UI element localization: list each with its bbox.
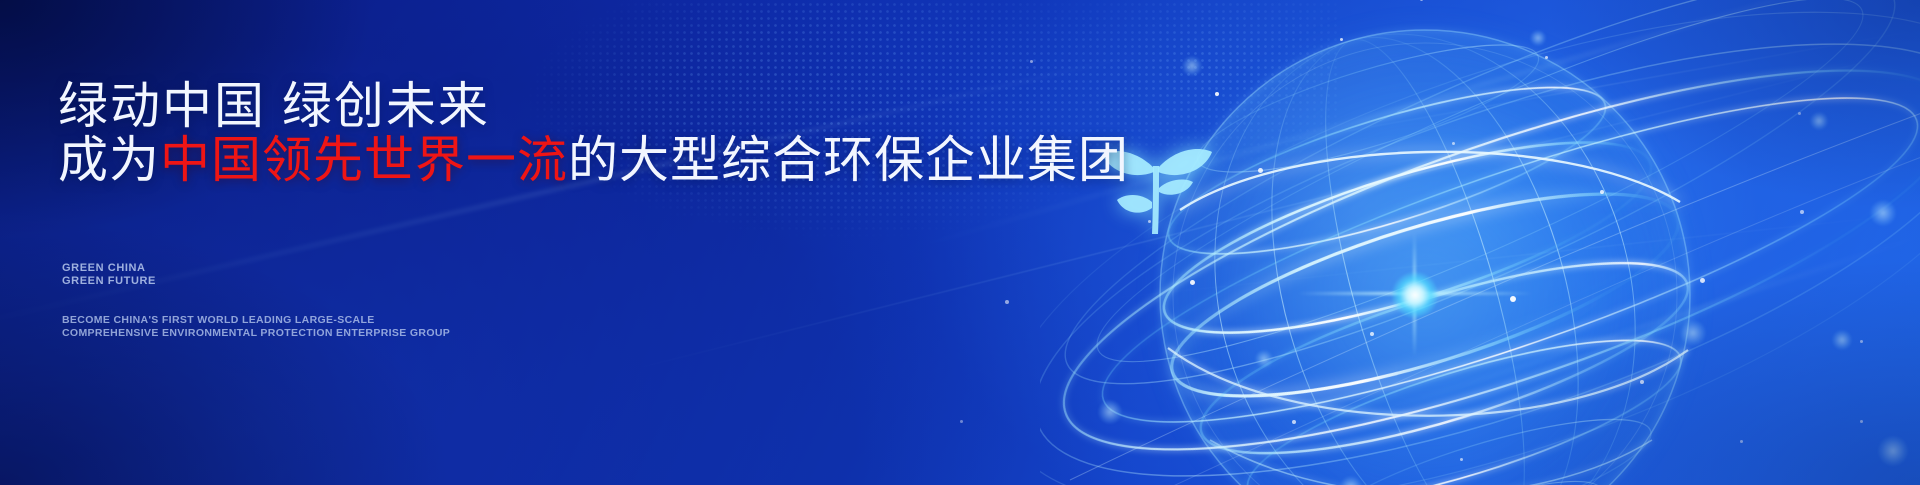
core-flare-horizontal bbox=[1298, 292, 1533, 295]
globe-particles bbox=[1040, 0, 1920, 485]
tagline-line-1: GREEN CHINA bbox=[62, 262, 146, 274]
banner-copy: 绿动中国 绿创未来 成为中国领先世界一流的大型综合环保企业集团 GREEN CH… bbox=[58, 0, 1078, 485]
headline-line-1: 绿动中国 绿创未来 bbox=[58, 78, 490, 134]
headline-suffix: 的大型综合环保企业集团 bbox=[568, 132, 1129, 188]
subtitle-block: BECOME CHINA'S FIRST WORLD LEADING LARGE… bbox=[62, 314, 450, 339]
headline-prefix: 成为 bbox=[58, 132, 160, 188]
globe-core-flare bbox=[1392, 272, 1438, 318]
core-flare-vertical bbox=[1413, 232, 1416, 357]
headline-line-2: 成为中国领先世界一流的大型综合环保企业集团 bbox=[58, 132, 1129, 188]
globe-sphere bbox=[1160, 30, 1690, 485]
tagline-line-2: GREEN FUTURE bbox=[62, 275, 156, 288]
subtitle-line-1: BECOME CHINA'S FIRST WORLD LEADING LARGE… bbox=[62, 314, 375, 326]
hero-banner: 绿动中国 绿创未来 成为中国领先世界一流的大型综合环保企业集团 GREEN CH… bbox=[0, 0, 1920, 485]
subtitle-line-2: COMPREHENSIVE ENVIRONMENTAL PROTECTION E… bbox=[62, 327, 450, 340]
tagline-block: GREEN CHINA GREEN FUTURE bbox=[62, 262, 156, 288]
globe-glow bbox=[1145, 15, 1705, 485]
wireframe-globe bbox=[1040, 0, 1920, 485]
headline-highlight: 中国领先世界一流 bbox=[160, 132, 568, 188]
